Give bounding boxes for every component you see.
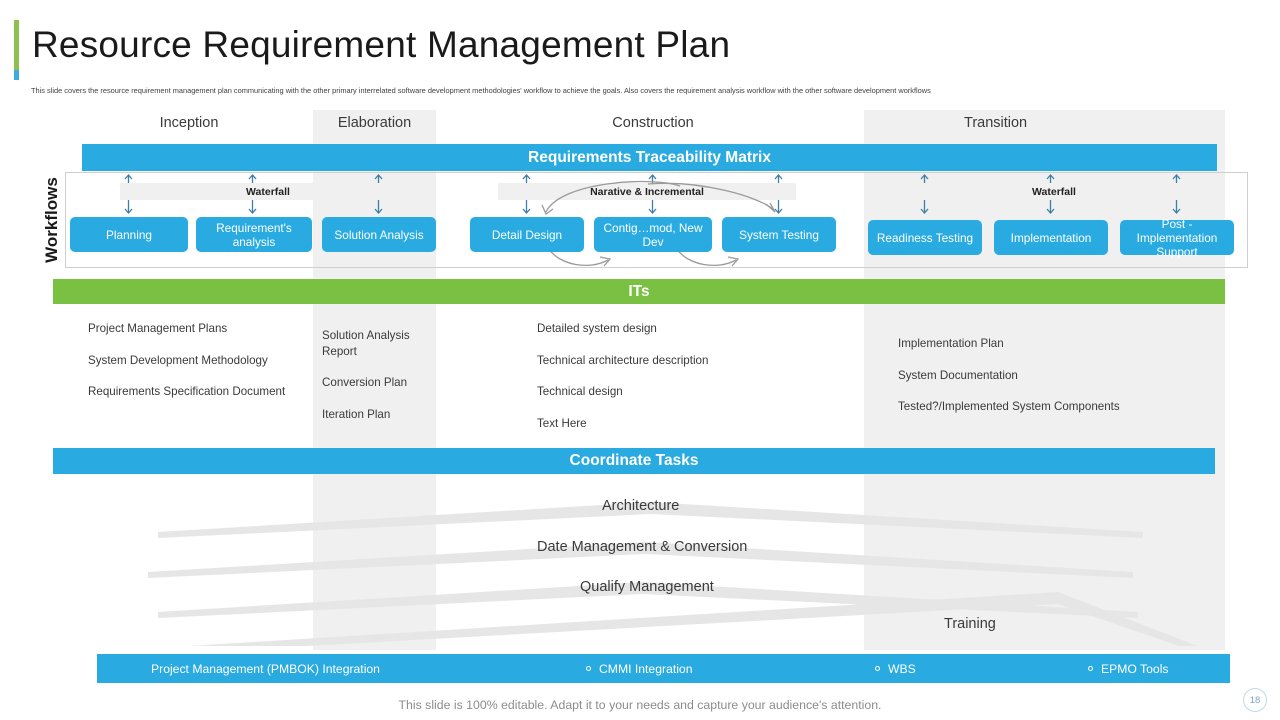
arrow-down-icon: [1172, 200, 1181, 216]
its-item: Solution Analysis Report: [322, 328, 426, 359]
accent-bar-green: [14, 20, 19, 70]
workflow-node-config-new-dev[interactable]: Contig…mod, New Dev: [594, 217, 712, 252]
workflow-node-planning[interactable]: Planning: [70, 217, 188, 252]
page-subtitle: This slide covers the resource requireme…: [31, 86, 1211, 96]
workflow-node-post-implementation-support[interactable]: Post - Implementation Support: [1120, 220, 1234, 255]
bullet-icon: [1088, 666, 1093, 671]
arrow-down-icon: [374, 200, 383, 216]
slide-canvas: Resource Requirement Management Plan Thi…: [0, 0, 1280, 720]
bottom-item-label: EPMO Tools: [1101, 662, 1169, 676]
its-column-construction: Detailed system design Technical archite…: [537, 321, 837, 447]
its-item: Conversion Plan: [322, 375, 426, 391]
bottom-item-label: CMMI Integration: [599, 662, 692, 676]
its-item: System Documentation: [898, 368, 1198, 384]
bottom-item-epmo[interactable]: EPMO Tools: [1088, 654, 1169, 683]
arrow-down-icon: [248, 200, 257, 216]
workflows-axis-label: Workflows: [38, 172, 66, 268]
its-column-inception: Project Management Plans System Developm…: [88, 321, 298, 416]
workflow-node-solution-analysis[interactable]: Solution Analysis: [322, 217, 436, 252]
workflow-strip-waterfall-2: Waterfall: [905, 183, 1203, 200]
coordinate-task-label-architecture: Architecture: [602, 498, 679, 514]
coordinate-task-label-date-management: Date Management & Conversion: [537, 539, 747, 555]
its-item: System Development Methodology: [88, 353, 298, 369]
coordinate-task-label-training: Training: [944, 616, 996, 632]
its-item: Detailed system design: [537, 321, 837, 337]
phase-header-elaboration: Elaboration: [313, 115, 436, 131]
its-bar: ITs: [53, 279, 1225, 304]
requirements-traceability-matrix-bar: Requirements Traceability Matrix: [82, 144, 1217, 171]
bottom-item-label: WBS: [888, 662, 916, 676]
footer-note: This slide is 100% editable. Adapt it to…: [0, 698, 1280, 712]
page-number-badge: 18: [1243, 688, 1267, 712]
its-column-transition: Implementation Plan System Documentation…: [898, 336, 1198, 431]
bottom-item-pmbok[interactable]: Project Management (PMBOK) Integration: [151, 654, 380, 683]
phase-header-inception: Inception: [118, 115, 260, 131]
coordinate-task-label-qualify-management: Qualify Management: [580, 579, 714, 595]
bottom-item-label: Project Management (PMBOK) Integration: [151, 662, 380, 676]
phase-header-construction: Construction: [520, 115, 786, 131]
arrow-down-icon: [920, 200, 929, 216]
coordinate-tasks-bar: Coordinate Tasks: [53, 448, 1215, 474]
accent-bar-blue: [14, 70, 19, 80]
workflows-axis-text: Workflows: [42, 177, 62, 263]
arrow-down-icon: [124, 200, 133, 216]
bottom-item-cmmi[interactable]: CMMI Integration: [586, 654, 692, 683]
bullet-icon: [586, 666, 591, 671]
workflow-node-requirements-analysis[interactable]: Requirement's analysis: [196, 217, 312, 252]
bottom-integration-bar: Project Management (PMBOK) Integration C…: [97, 654, 1230, 683]
workflow-node-readiness-testing[interactable]: Readiness Testing: [868, 220, 982, 255]
bottom-item-wbs[interactable]: WBS: [875, 654, 916, 683]
arrow-down-icon: [1046, 200, 1055, 216]
workflow-node-system-testing[interactable]: System Testing: [722, 217, 836, 252]
its-item: Project Management Plans: [88, 321, 298, 337]
phase-header-transition: Transition: [964, 115, 1280, 131]
workflow-node-detail-design[interactable]: Detail Design: [470, 217, 584, 252]
its-item: Technical architecture description: [537, 353, 837, 369]
page-title: Resource Requirement Management Plan: [32, 24, 730, 66]
bullet-icon: [875, 666, 880, 671]
its-item: Implementation Plan: [898, 336, 1198, 352]
its-item: Iteration Plan: [322, 407, 426, 423]
its-item: Text Here: [537, 416, 837, 432]
its-column-elaboration: Solution Analysis Report Conversion Plan…: [322, 328, 426, 438]
workflow-node-implementation[interactable]: Implementation: [994, 220, 1108, 255]
its-item: Requirements Specification Document: [88, 384, 298, 400]
workflow-strip-waterfall-1: Waterfall: [120, 183, 416, 200]
its-item: Tested?/Implemented System Components: [898, 399, 1198, 415]
its-item: Technical design: [537, 384, 837, 400]
